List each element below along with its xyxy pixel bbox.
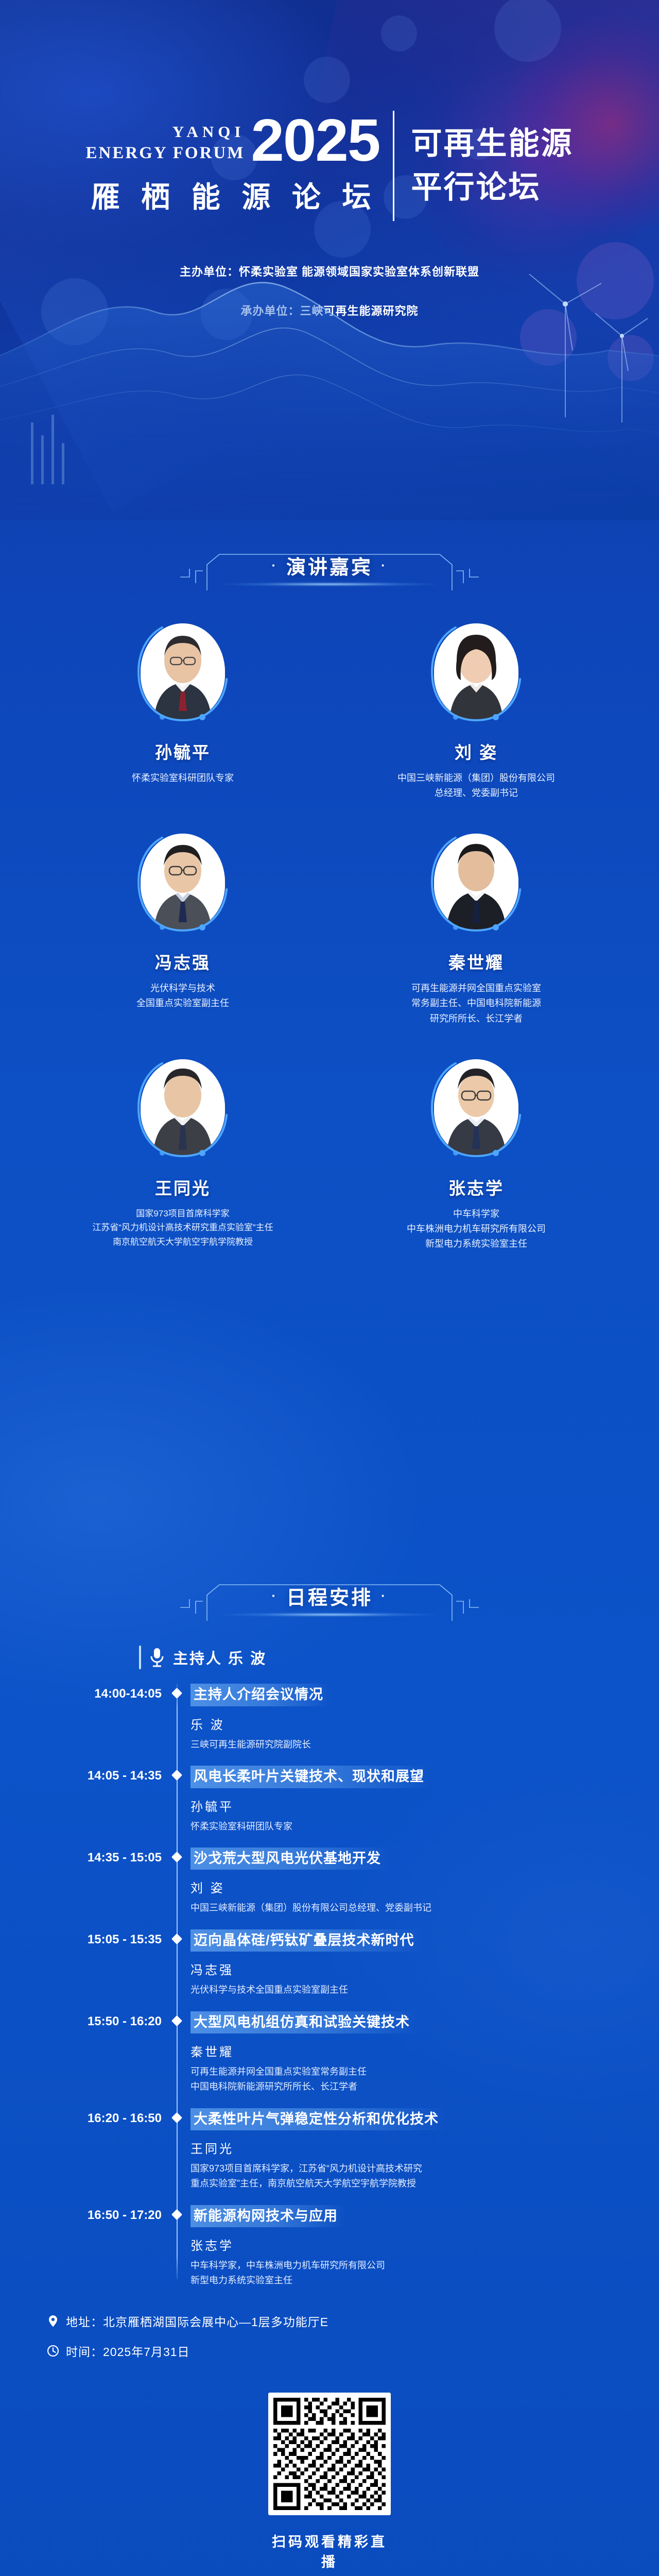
host-accent-bar <box>139 1646 141 1669</box>
speakers-row: 孙毓平 怀柔实验室科研团队专家 <box>0 617 659 801</box>
qr-code[interactable] <box>268 2393 391 2515</box>
speaker-card: 王同光 国家973项目首席科学家 江苏省“风力机设计高技术研究重点实验室”主任 … <box>85 1053 281 1251</box>
forum-name-line1: 可再生能源 <box>411 126 573 162</box>
schedule-affiliation: 国家973项目首席科学家，江苏省“风力机设计高技术研究 重点实验室”主任，南京航… <box>190 2161 631 2191</box>
brand-block: YANQI ENERGY FORUM 2025 雁 栖 能 源 论 坛 <box>86 116 393 216</box>
heading-glow <box>221 1613 438 1617</box>
bokeh-circle <box>608 335 654 381</box>
speaker-ring-decoration <box>425 617 528 726</box>
schedule-item: 16:50 - 17:20 新能源构网技术与应用 张志学 中车科学家，中车株洲电… <box>31 2205 631 2289</box>
event-info-block: 地址：北京雁栖湖国际会展中心—1层多功能厅E 时间：2025年7月31日 <box>46 2312 659 2360</box>
schedule-topic: 新能源构网技术与应用 <box>190 2205 346 2228</box>
speakers-section-heading: · 演讲嘉宾 · <box>0 546 659 608</box>
host-row: 主持人 乐 波 <box>139 1646 659 1669</box>
speaker-name: 张志学 <box>448 1175 504 1199</box>
schedule-topic: 主持人介绍会议情况 <box>190 1684 332 1706</box>
schedule-marker <box>166 1684 187 1752</box>
schedule-marker <box>166 2108 187 2192</box>
schedule-marker <box>166 2205 187 2289</box>
schedule-marker <box>166 1766 187 1834</box>
speaker-name: 孙毓平 <box>155 739 211 764</box>
heading-dot-left: · <box>271 557 278 573</box>
schedule-affiliation: 怀柔实验室科研团队专家 <box>190 1819 631 1834</box>
schedule-item: 14:05 - 14:35 风电长柔叶片关键技术、现状和展望 孙毓平 怀柔实验室… <box>31 1766 631 1834</box>
title-divider <box>393 111 394 221</box>
speaker-photo-frame <box>425 617 528 726</box>
speakers-row: 冯志强 光伏科学与技术 全国重点实验室副主任 <box>0 827 659 1026</box>
speaker-title: 怀柔实验室科研团队专家 <box>132 771 234 786</box>
schedule-list-wrapper: 主持人 乐 波 14:00-14:05 主持人介绍会议情况 乐 波 三峡可再生能… <box>0 1638 659 2571</box>
event-address: 地址：北京雁栖湖国际会展中心—1层多功能厅E <box>66 2312 328 2330</box>
schedule-topic: 大柔性叶片气弹稳定性分析和优化技术 <box>190 2108 447 2131</box>
schedule-affiliation: 三峡可再生能源研究院副院长 <box>190 1737 631 1752</box>
qr-block: 扫码观看精彩直播 <box>268 2393 391 2571</box>
schedule-affiliation: 中车科学家，中车株洲电力机车研究所有限公司 新型电力系统实验室主任 <box>190 2258 631 2288</box>
speakers-section: · 演讲嘉宾 · <box>0 546 659 1283</box>
schedule-time: 14:35 - 15:05 <box>31 1848 166 1916</box>
schedule-time: 14:05 - 14:35 <box>31 1766 166 1834</box>
speakers-row: 王同光 国家973项目首席科学家 江苏省“风力机设计高技术研究重点实验室”主任 … <box>0 1053 659 1251</box>
location-pin-icon <box>46 2314 60 2328</box>
schedule-speaker: 张志学 <box>190 2235 631 2253</box>
speaker-card: 刘 姿 中国三峡新能源（集团）股份有限公司 总经理、党委副书记 <box>378 617 574 801</box>
speaker-card: 秦世耀 可再生能源并网全国重点实验室 常务副主任、中国电科院新能源 研究所所长、… <box>378 827 574 1026</box>
brand-en-line2: ENERGY FORUM <box>86 145 245 162</box>
speaker-name: 冯志强 <box>155 949 211 974</box>
schedule-affiliation: 中国三峡新能源（集团）股份有限公司总经理、党委副书记 <box>190 1901 631 1916</box>
poster-page: YANQI ENERGY FORUM 2025 雁 栖 能 源 论 坛 可再生能… <box>0 0 659 2576</box>
title-block: YANQI ENERGY FORUM 2025 雁 栖 能 源 论 坛 可再生能… <box>0 111 659 221</box>
heading-text: 日程安排 <box>286 1582 373 1610</box>
speaker-title: 中车科学家 中车株洲电力机车研究所有限公司 新型电力系统实验室主任 <box>407 1207 546 1251</box>
speaker-ring-decoration <box>131 617 234 726</box>
heading-dot-right: · <box>381 1588 388 1604</box>
heading-glow <box>221 582 438 586</box>
speaker-ring-decoration <box>425 1053 528 1162</box>
speaker-photo-frame <box>131 617 234 726</box>
schedule-item: 15:05 - 15:35 迈向晶体硅/钙钛矿叠层技术新时代 冯志强 光伏科学与… <box>31 1929 631 1998</box>
speaker-name: 刘 姿 <box>455 739 498 764</box>
heading-dot-right: · <box>381 557 388 573</box>
speaker-name: 秦世耀 <box>448 949 504 974</box>
speaker-card: 张志学 中车科学家 中车株洲电力机车研究所有限公司 新型电力系统实验室主任 <box>378 1053 574 1251</box>
schedule-time: 15:50 - 16:20 <box>31 2011 166 2095</box>
section-title-schedule: · 日程安排 · <box>0 1577 659 1615</box>
forum-name-line2: 平行论坛 <box>411 170 573 206</box>
schedule-topic: 大型风电机组仿真和试验关键技术 <box>190 2011 418 2034</box>
schedule-marker <box>166 1848 187 1916</box>
schedule-list: 14:00-14:05 主持人介绍会议情况 乐 波 三峡可再生能源研究院副院长 … <box>31 1684 631 2289</box>
schedule-topic: 沙戈荒大型风电光伏基地开发 <box>190 1848 389 1870</box>
speaker-photo-frame <box>131 1053 234 1162</box>
forum-name-block: 可再生能源 平行论坛 <box>395 126 573 206</box>
event-address-row: 地址：北京雁栖湖国际会展中心—1层多功能厅E <box>46 2312 659 2330</box>
schedule-affiliation: 可再生能源并网全国重点实验室常务副主任 中国电科院新能源研究所所长、长江学者 <box>190 2064 631 2094</box>
schedule-speaker: 秦世耀 <box>190 2042 631 2060</box>
speaker-card: 孙毓平 怀柔实验室科研团队专家 <box>85 617 281 801</box>
schedule-speaker: 乐 波 <box>190 1715 631 1733</box>
schedule-marker <box>166 2011 187 2095</box>
schedule-section-heading: · 日程安排 · <box>0 1577 659 1638</box>
speaker-photo-frame <box>425 827 528 937</box>
qr-code-image <box>273 2398 386 2510</box>
brand-cn: 雁 栖 能 源 论 坛 <box>86 174 380 216</box>
heading-text: 演讲嘉宾 <box>286 551 373 580</box>
schedule-item: 14:35 - 15:05 沙戈荒大型风电光伏基地开发 刘 姿 中国三峡新能源（… <box>31 1848 631 1916</box>
schedule-section: · 日程安排 · 主持人 乐 波 14:00-14:0 <box>0 1577 659 2571</box>
co-organizer-line: 承办单位：三峡可再生能源研究院 <box>0 302 659 318</box>
brand-year: 2025 <box>251 116 379 165</box>
schedule-speaker: 刘 姿 <box>190 1878 631 1896</box>
schedule-topic: 迈向晶体硅/钙钛矿叠层技术新时代 <box>190 1929 423 1952</box>
organizer-line: 主办单位：怀柔实验室 能源领域国家实验室体系创新联盟 <box>0 263 659 279</box>
schedule-marker <box>166 1929 187 1998</box>
schedule-item: 16:20 - 16:50 大柔性叶片气弹稳定性分析和优化技术 王同光 国家97… <box>31 2108 631 2192</box>
bokeh-circle <box>304 57 350 103</box>
schedule-topic: 风电长柔叶片关键技术、现状和展望 <box>190 1766 432 1788</box>
schedule-speaker: 冯志强 <box>190 1960 631 1978</box>
speaker-ring-decoration <box>131 827 234 937</box>
bokeh-circle <box>381 15 417 52</box>
schedule-time: 16:50 - 17:20 <box>31 2205 166 2289</box>
speaker-card: 冯志强 光伏科学与技术 全国重点实验室副主任 <box>85 827 281 1026</box>
speaker-photo-frame <box>425 1053 528 1162</box>
brand-en-line1: YANQI <box>86 124 245 140</box>
heading-dot-left: · <box>271 1588 278 1604</box>
qr-caption: 扫码观看精彩直播 <box>268 2531 391 2571</box>
schedule-speaker: 王同光 <box>190 2139 631 2157</box>
host-label: 主持人 乐 波 <box>173 1647 267 1668</box>
clock-icon <box>46 2344 60 2358</box>
event-time-row: 时间：2025年7月31日 <box>46 2342 659 2360</box>
organizers-block: 主办单位：怀柔实验室 能源领域国家实验室体系创新联盟 承办单位：三峡可再生能源研… <box>0 263 659 318</box>
event-time: 时间：2025年7月31日 <box>66 2342 190 2360</box>
speaker-name: 王同光 <box>155 1175 211 1199</box>
schedule-time: 16:20 - 16:50 <box>31 2108 166 2192</box>
hero-banner: YANQI ENERGY FORUM 2025 雁 栖 能 源 论 坛 可再生能… <box>0 0 659 520</box>
schedule-time: 14:00-14:05 <box>31 1684 166 1752</box>
microphone-icon <box>148 1647 166 1668</box>
speaker-title: 中国三峡新能源（集团）股份有限公司 总经理、党委副书记 <box>397 771 555 801</box>
speaker-title: 可再生能源并网全国重点实验室 常务副主任、中国电科院新能源 研究所所长、长江学者 <box>411 981 541 1026</box>
speaker-title: 光伏科学与技术 全国重点实验室副主任 <box>136 981 229 1011</box>
schedule-item: 15:50 - 16:20 大型风电机组仿真和试验关键技术 秦世耀 可再生能源并… <box>31 2011 631 2095</box>
speaker-photo-frame <box>131 827 234 937</box>
section-title-speakers: · 演讲嘉宾 · <box>0 546 659 584</box>
speaker-ring-decoration <box>131 1053 234 1162</box>
speakers-grid: 孙毓平 怀柔实验室科研团队专家 <box>0 608 659 1283</box>
schedule-affiliation: 光伏科学与技术全国重点实验室副主任 <box>190 1982 631 1997</box>
speaker-title: 国家973项目首席科学家 江苏省“风力机设计高技术研究重点实验室”主任 南京航空… <box>92 1207 273 1249</box>
schedule-item: 14:00-14:05 主持人介绍会议情况 乐 波 三峡可再生能源研究院副院长 <box>31 1684 631 1752</box>
schedule-speaker: 孙毓平 <box>190 1797 631 1815</box>
speaker-ring-decoration <box>425 827 528 937</box>
schedule-time: 15:05 - 15:35 <box>31 1929 166 1998</box>
